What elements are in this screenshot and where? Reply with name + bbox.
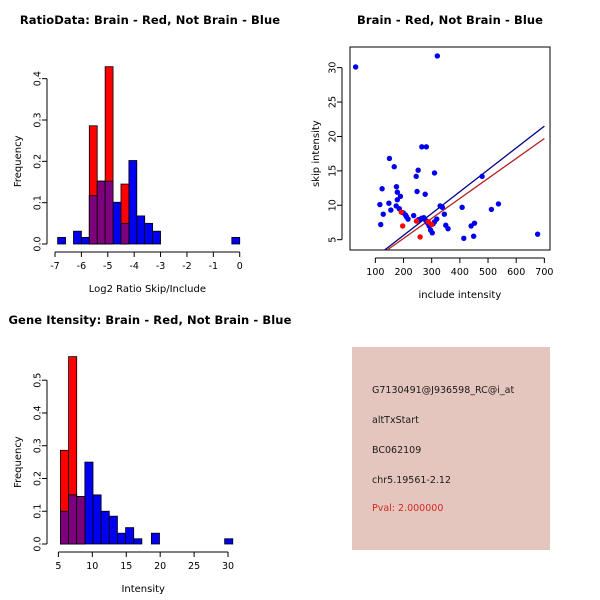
scatter-point-blue bbox=[387, 156, 392, 161]
histogram-bar-overlap bbox=[69, 495, 77, 544]
x-axis-tick-label: 30 bbox=[222, 561, 234, 572]
y-axis-tick-label: 0.4 bbox=[33, 405, 44, 420]
y-axis-label: skip intensity bbox=[311, 120, 322, 187]
y-axis-tick-label: 20 bbox=[328, 130, 339, 142]
x-axis-tick-label: 500 bbox=[479, 267, 497, 278]
gene-info-panel: G7130491@J936598_RC@i_at altTxStart BC06… bbox=[300, 300, 600, 600]
y-axis-tick-label: 25 bbox=[328, 96, 339, 108]
x-axis-tick-label: -2 bbox=[182, 261, 191, 272]
gene-intensity-histogram-canvas: 510152025300.00.10.20.30.40.5IntensityFr… bbox=[0, 300, 300, 600]
scatter-point-blue bbox=[405, 216, 410, 221]
y-axis-tick-label: 0.2 bbox=[33, 471, 44, 486]
histogram-bar-overlap bbox=[97, 181, 105, 244]
histogram-bar-blue bbox=[101, 511, 109, 544]
locus-text: chr5.19561-2.12 bbox=[372, 475, 451, 486]
scatter-point-blue bbox=[440, 205, 445, 210]
scatter-point-blue bbox=[430, 230, 435, 235]
x-axis-tick-label: -1 bbox=[209, 261, 218, 272]
histogram-bar-overlap bbox=[77, 497, 85, 545]
ratio-histogram-canvas: -7-6-5-4-3-2-100.00.10.20.30.4Log2 Ratio… bbox=[0, 0, 300, 300]
regression-line bbox=[387, 139, 544, 250]
x-axis-label: Intensity bbox=[121, 584, 165, 595]
x-axis-tick-label: -6 bbox=[77, 261, 86, 272]
scatter-point-blue bbox=[386, 201, 391, 206]
histogram-bar-blue bbox=[73, 231, 81, 244]
x-axis-tick-label: 200 bbox=[394, 267, 412, 278]
x-axis-label: include intensity bbox=[418, 290, 501, 300]
y-axis-tick-label: 10 bbox=[328, 199, 339, 211]
scatter-point-blue bbox=[379, 186, 384, 191]
y-axis-tick-label: 5 bbox=[328, 237, 339, 243]
fit-lines-group bbox=[385, 126, 545, 250]
x-axis-tick-label: -3 bbox=[156, 261, 165, 272]
histogram-bar-blue bbox=[145, 223, 153, 244]
histogram-bar-blue bbox=[85, 462, 93, 544]
scatter-point-blue bbox=[423, 192, 428, 197]
scatter-plot-canvas: 10020030040050060070051015202530include … bbox=[300, 0, 600, 300]
points-group bbox=[353, 53, 540, 241]
scatter-point-blue bbox=[395, 197, 400, 202]
x-axis-label: Log2 Ratio Skip/Include bbox=[89, 284, 206, 295]
scatter-point-red bbox=[429, 222, 434, 227]
scatter-point-blue bbox=[377, 202, 382, 207]
histogram-bar-blue bbox=[134, 539, 142, 544]
accession-text: BC062109 bbox=[372, 445, 421, 456]
y-axis-tick-label: 0.3 bbox=[33, 438, 44, 453]
y-axis-label: Frequency bbox=[13, 436, 24, 488]
y-axis-label: Frequency bbox=[13, 135, 24, 187]
y-axis-tick-label: 30 bbox=[328, 62, 339, 74]
scatter-point-blue bbox=[461, 236, 466, 241]
svg-gene-plot-area: 510152025300.00.10.20.30.40.5IntensityFr… bbox=[13, 357, 234, 595]
pval-text: Pval: 2.000000 bbox=[372, 503, 443, 514]
scatter-point-blue bbox=[413, 174, 418, 179]
scatter-point-blue bbox=[434, 216, 439, 221]
histogram-bar-blue bbox=[109, 516, 117, 544]
x-axis-tick-label: 700 bbox=[535, 267, 553, 278]
histogram-bar-blue bbox=[117, 533, 125, 544]
y-axis-tick-label: 0.0 bbox=[33, 236, 44, 251]
histogram-bar-overlap bbox=[121, 223, 129, 244]
scatter-point-blue bbox=[435, 53, 440, 58]
x-axis-tick-label: 15 bbox=[120, 561, 132, 572]
regression-line bbox=[385, 126, 545, 250]
histogram-bar-blue bbox=[225, 539, 233, 544]
x-axis-tick-label: -5 bbox=[103, 261, 112, 272]
x-axis-tick-label: 600 bbox=[507, 267, 525, 278]
scatter-point-blue bbox=[392, 164, 397, 169]
scatter-point-blue bbox=[442, 212, 447, 217]
y-axis-tick-label: 15 bbox=[328, 165, 339, 177]
scatter-point-red bbox=[399, 209, 404, 214]
scatter-point-blue bbox=[388, 207, 393, 212]
x-axis-tick-label: -7 bbox=[50, 261, 59, 272]
x-axis-tick-label: 10 bbox=[86, 561, 98, 572]
gene-info-box: G7130491@J936598_RC@i_at altTxStart BC06… bbox=[352, 347, 550, 550]
histogram-bar-blue bbox=[232, 237, 240, 244]
scatter-point-blue bbox=[411, 213, 416, 218]
scatter-point-blue bbox=[472, 220, 477, 225]
scatter-point-blue bbox=[535, 231, 540, 236]
histogram-bar-blue bbox=[126, 528, 134, 544]
scatter-point-red bbox=[400, 223, 405, 228]
scatter-point-blue bbox=[415, 167, 420, 172]
histogram-bar-blue bbox=[153, 231, 161, 244]
scatter-point-blue bbox=[378, 222, 383, 227]
plot-frame bbox=[350, 47, 550, 250]
event-type-text: altTxStart bbox=[372, 415, 419, 426]
histogram-bar-overlap bbox=[89, 196, 97, 244]
y-axis-tick-label: 0.2 bbox=[33, 154, 44, 169]
scatter-point-blue bbox=[471, 234, 476, 239]
scatter-point-blue bbox=[353, 64, 358, 69]
x-axis-tick-label: -4 bbox=[129, 261, 138, 272]
scatter-point-blue bbox=[424, 144, 429, 149]
x-axis-tick-label: 0 bbox=[237, 261, 243, 272]
gene-intensity-histogram-panel: Gene Itensity: Brain - Red, Not Brain - … bbox=[0, 300, 300, 600]
scatter-plot-panel: Brain - Red, Not Brain - Blue 1002003004… bbox=[300, 0, 600, 300]
histogram-bar-blue bbox=[58, 237, 66, 244]
y-axis-tick-label: 0.4 bbox=[33, 71, 44, 86]
histogram-bar-overlap bbox=[105, 181, 113, 244]
x-axis-tick-label: 300 bbox=[423, 267, 441, 278]
histogram-bar-blue bbox=[137, 216, 145, 244]
histogram-bar-blue bbox=[151, 533, 159, 544]
scatter-point-red bbox=[417, 234, 422, 239]
x-axis-tick-label: 400 bbox=[451, 267, 469, 278]
probe-id-text: G7130491@J936598_RC@i_at bbox=[372, 385, 514, 396]
svg-ratio-plot-area: -7-6-5-4-3-2-100.00.10.20.30.4Log2 Ratio… bbox=[13, 67, 243, 295]
histogram-bar-blue bbox=[93, 495, 101, 544]
scatter-point-blue bbox=[394, 184, 399, 189]
scatter-point-blue bbox=[432, 170, 437, 175]
histogram-bar-overlap bbox=[60, 511, 68, 544]
scatter-point-blue bbox=[414, 189, 419, 194]
scatter-point-blue bbox=[459, 205, 464, 210]
scatter-point-blue bbox=[445, 226, 450, 231]
histogram-bar-blue bbox=[129, 161, 137, 244]
scatter-point-blue bbox=[479, 174, 484, 179]
y-axis-tick-label: 0.1 bbox=[33, 195, 44, 210]
y-axis-tick-label: 0.5 bbox=[33, 373, 44, 388]
svg-scatter-plot-area: 10020030040050060070051015202530include … bbox=[311, 47, 553, 300]
x-axis-tick-label: 5 bbox=[55, 561, 61, 572]
histogram-bar-blue bbox=[81, 237, 89, 244]
y-axis-tick-label: 0.1 bbox=[33, 504, 44, 519]
y-axis-tick-label: 0.3 bbox=[33, 112, 44, 127]
scatter-point-blue bbox=[381, 212, 386, 217]
scatter-point-blue bbox=[496, 201, 501, 206]
x-axis-tick-label: 20 bbox=[154, 561, 166, 572]
scatter-point-blue bbox=[489, 207, 494, 212]
y-axis-tick-label: 0.0 bbox=[33, 536, 44, 551]
x-axis-tick-label: 25 bbox=[188, 561, 200, 572]
x-axis-tick-label: 100 bbox=[366, 267, 384, 278]
scatter-point-red bbox=[414, 218, 419, 223]
ratio-histogram-panel: RatioData: Brain - Red, Not Brain - Blue… bbox=[0, 0, 300, 300]
histogram-bar-blue bbox=[113, 202, 121, 244]
